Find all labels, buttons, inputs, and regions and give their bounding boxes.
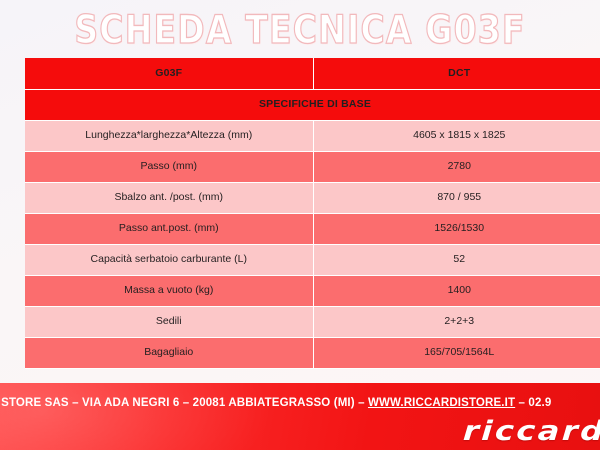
row-value: 52	[313, 244, 600, 275]
title-area: SCHEDA TECNICA G03F	[0, 6, 600, 52]
table-header-model: G03F	[25, 58, 313, 89]
table-body: G03F DCT SPECIFICHE DI BASE Lunghezza*la…	[25, 58, 600, 368]
slide-canvas: SCHEDA TECNICA G03F G03F DCT SPECIFICHE …	[0, 0, 600, 450]
page-title: SCHEDA TECNICA G03F	[74, 6, 525, 52]
table-header-transmission: DCT	[313, 58, 600, 89]
row-label: Passo (mm)	[25, 151, 313, 182]
row-value: 2780	[313, 151, 600, 182]
table-row: Bagagliaio 165/705/1564L	[25, 337, 600, 368]
row-label: Massa a vuoto (kg)	[25, 275, 313, 306]
table-row: Capacità serbatoio carburante (L) 52	[25, 244, 600, 275]
row-value: 165/705/1564L	[313, 337, 600, 368]
table-row: Lunghezza*larghezza*Altezza (mm) 4605 x …	[25, 120, 600, 151]
row-value: 870 / 955	[313, 182, 600, 213]
row-value: 1400	[313, 275, 600, 306]
footer-address-pre: DI STORE SAS – VIA ADA NEGRI 6 – 20081 A…	[0, 397, 368, 409]
row-value: 4605 x 1815 x 1825	[313, 120, 600, 151]
table-section-row: SPECIFICHE DI BASE	[25, 89, 600, 120]
footer-contact-line: DI STORE SAS – VIA ADA NEGRI 6 – 20081 A…	[0, 397, 600, 409]
footer-website-link[interactable]: WWW.RICCARDISTORE.IT	[368, 397, 515, 409]
table-header-row: G03F DCT	[25, 58, 600, 89]
table-row: Passo (mm) 2780	[25, 151, 600, 182]
riccardi-logo: riccardi	[462, 416, 600, 447]
section-title-base-specs: SPECIFICHE DI BASE	[25, 89, 600, 120]
footer-address-post: – 02.9	[515, 397, 551, 409]
table-row: Sbalzo ant. /post. (mm) 870 / 955	[25, 182, 600, 213]
specification-table: G03F DCT SPECIFICHE DI BASE Lunghezza*la…	[25, 58, 600, 369]
row-label: Bagagliaio	[25, 337, 313, 368]
row-label: Sbalzo ant. /post. (mm)	[25, 182, 313, 213]
footer-band: DI STORE SAS – VIA ADA NEGRI 6 – 20081 A…	[0, 383, 600, 450]
row-label: Passo ant.post. (mm)	[25, 213, 313, 244]
table-row: Passo ant.post. (mm) 1526/1530	[25, 213, 600, 244]
table-row: Massa a vuoto (kg) 1400	[25, 275, 600, 306]
row-value: 1526/1530	[313, 213, 600, 244]
row-label: Capacità serbatoio carburante (L)	[25, 244, 313, 275]
table-row: Sedili 2+2+3	[25, 306, 600, 337]
row-label: Sedili	[25, 306, 313, 337]
row-label: Lunghezza*larghezza*Altezza (mm)	[25, 120, 313, 151]
row-value: 2+2+3	[313, 306, 600, 337]
